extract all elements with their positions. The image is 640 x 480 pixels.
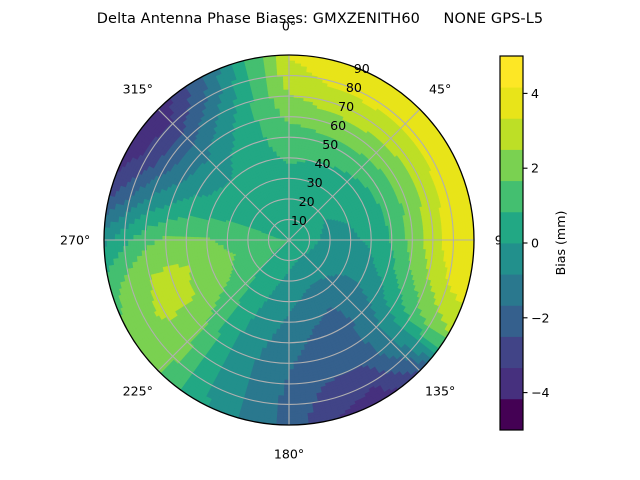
colorbar-ticks: −4−2024 xyxy=(523,86,550,400)
azimuth-tick-label-315: 315° xyxy=(123,81,153,96)
colorbar-tick-label-4: 4 xyxy=(531,86,539,101)
radial-tick-label-40: 40 xyxy=(314,156,330,171)
radial-tick-label-10: 10 xyxy=(291,213,307,228)
azimuth-tick-label-180: 180° xyxy=(274,446,304,461)
polar-grid xyxy=(104,55,474,425)
colorbar-tick-label-3: 2 xyxy=(531,161,539,176)
figure-canvas: Delta Antenna Phase Biases: GMXZENITH60 … xyxy=(0,0,640,480)
colorbar-tick-label-0: −4 xyxy=(531,385,550,400)
radial-tick-label-90: 90 xyxy=(354,61,370,76)
colorbar-bands xyxy=(500,56,523,430)
colorbar-tick-label-1: −2 xyxy=(531,310,550,325)
azimuth-tick-label-225: 225° xyxy=(123,384,153,399)
radial-tick-label-20: 20 xyxy=(299,194,315,209)
radial-tick-label-50: 50 xyxy=(322,137,338,152)
page-title: Delta Antenna Phase Biases: GMXZENITH60 … xyxy=(0,11,640,27)
radial-tick-label-80: 80 xyxy=(346,80,362,95)
radial-tick-label-70: 70 xyxy=(338,99,354,114)
azimuth-tick-label-270: 270° xyxy=(60,233,90,248)
colorbar: −4−2024 Bias (mm) xyxy=(500,56,568,430)
colorbar-tick-label-2: 0 xyxy=(531,236,539,251)
radial-tick-label-60: 60 xyxy=(330,118,346,133)
radial-tick-label-30: 30 xyxy=(307,175,323,190)
polar-skyplot: 0°45°90135°180°225°270°315° 102030405060… xyxy=(0,0,640,480)
azimuth-tick-label-45: 45° xyxy=(429,81,451,96)
colorbar-axis-label: Bias (mm) xyxy=(553,211,568,276)
azimuth-tick-label-135: 135° xyxy=(425,384,455,399)
